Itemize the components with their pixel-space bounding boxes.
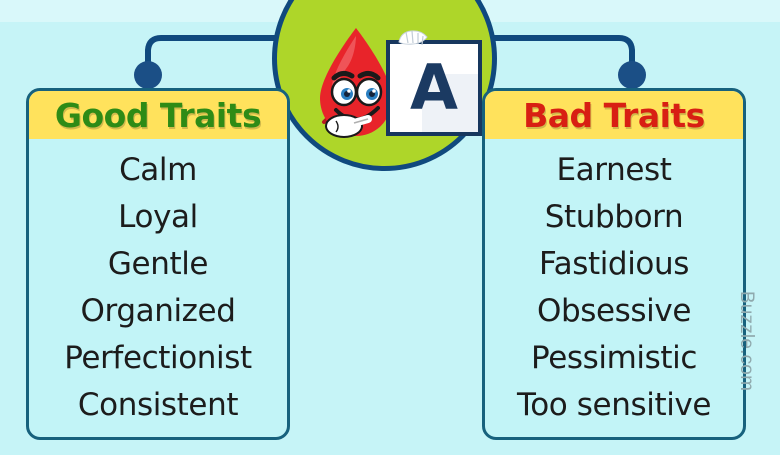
list-item: Earnest [485,147,743,194]
list-item: Calm [29,147,287,194]
right-connector-line [480,38,632,66]
right-connector-dot [618,61,646,89]
list-item: Stubborn [485,194,743,241]
good-traits-panel: Good Traits Calm Loyal Gentle Organized … [26,88,290,440]
list-item: Gentle [29,241,287,288]
list-item: Consistent [29,382,287,429]
list-item: Loyal [29,194,287,241]
letter-card: A [386,40,482,136]
list-item: Too sensitive [485,382,743,429]
good-traits-list: Calm Loyal Gentle Organized Perfectionis… [29,139,287,429]
list-item: Fastidious [485,241,743,288]
list-item: Obsessive [485,288,743,335]
blood-type-letter: A [410,57,458,119]
list-item: Pessimistic [485,335,743,382]
bad-traits-title: Bad Traits [485,91,743,139]
gloved-hand-icon [396,28,430,48]
left-connector-dot [134,61,162,89]
good-traits-title: Good Traits [29,91,287,139]
list-item: Perfectionist [29,335,287,382]
infographic-canvas: A Good Traits Calm Loyal Gentle Organize… [0,0,780,455]
left-connector-line [148,38,290,66]
watermark: Buzzle.com [735,281,757,401]
bad-traits-panel: Bad Traits Earnest Stubborn Fastidious O… [482,88,746,440]
list-item: Organized [29,288,287,335]
bad-traits-list: Earnest Stubborn Fastidious Obsessive Pe… [485,139,743,429]
